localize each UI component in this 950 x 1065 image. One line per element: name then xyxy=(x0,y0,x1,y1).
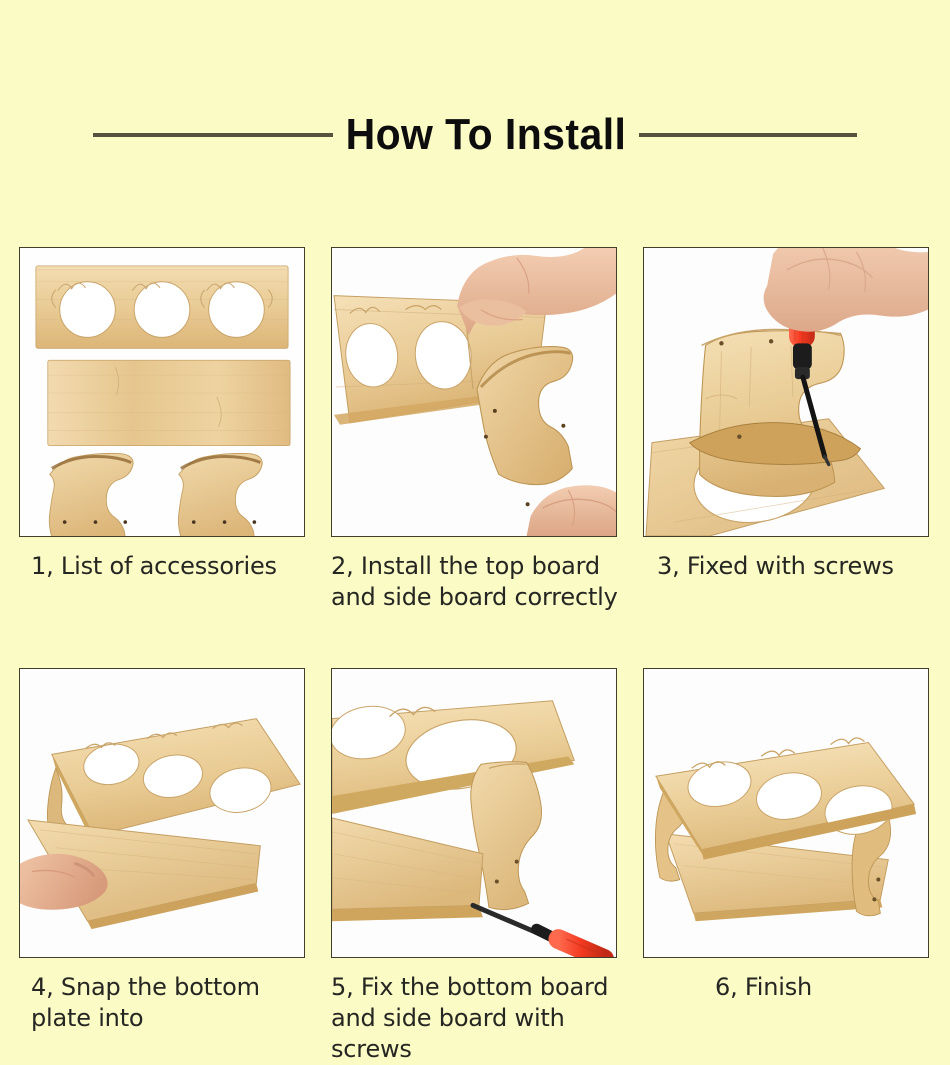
steps-row-top: 1, List of accessories xyxy=(19,247,931,613)
steps-row-bottom: 4, Snap the bottom plate into xyxy=(19,668,931,1065)
steps-grid: 1, List of accessories xyxy=(19,247,931,1065)
step-item: 5, Fix the bottom board and side board w… xyxy=(331,668,619,1065)
page-title-block: How To Install xyxy=(0,104,950,166)
step-caption: 1, List of accessories xyxy=(19,551,307,582)
step-item: 6, Finish xyxy=(643,668,931,1065)
install-instructions-page: How To Install xyxy=(0,0,950,1042)
photo-attach-side-board xyxy=(331,247,617,537)
photo-screw-bottom-board xyxy=(331,668,617,958)
photo-snap-bottom-plate xyxy=(19,668,305,958)
photo-drive-screw xyxy=(643,247,929,537)
part-top-board xyxy=(36,266,288,348)
step-item: 3, Fixed with screws xyxy=(643,247,931,613)
title-rule-right xyxy=(639,133,857,137)
step-caption: 3, Fixed with screws xyxy=(643,551,931,582)
step-caption: 2, Install the top board and side board … xyxy=(331,551,619,613)
step-item: 1, List of accessories xyxy=(19,247,307,613)
step-caption: 6, Finish xyxy=(643,972,931,1003)
photo-parts-layout xyxy=(19,247,305,537)
step-item: 4, Snap the bottom plate into xyxy=(19,668,307,1065)
step-caption: 4, Snap the bottom plate into xyxy=(19,972,307,1034)
page-title: How To Install xyxy=(342,109,630,161)
photo-finished-rack xyxy=(643,668,929,958)
title-rule-left xyxy=(93,133,333,137)
step-caption: 5, Fix the bottom board and side board w… xyxy=(331,972,619,1065)
step-item: 2, Install the top board and side board … xyxy=(331,247,619,613)
part-bottom-board xyxy=(48,360,290,445)
